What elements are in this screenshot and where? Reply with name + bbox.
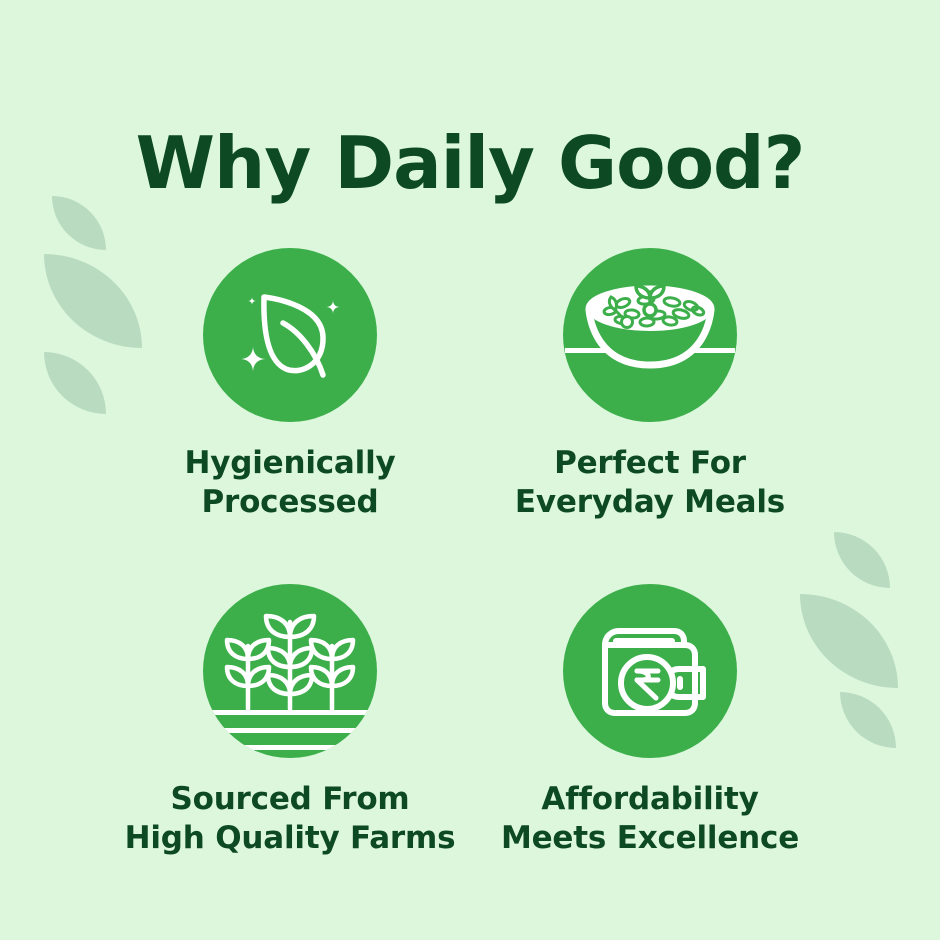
- soup-bowl-icon: [563, 248, 737, 422]
- feature-label: Sourced From High Quality Farms: [125, 780, 456, 858]
- leaf-sparkle-icon: [230, 275, 350, 395]
- feature-label: Perfect For Everyday Meals: [515, 444, 785, 522]
- why-daily-good-poster: Why Daily Good? Hygienically Proces: [0, 0, 940, 940]
- feature-icon-badge: [203, 584, 377, 758]
- feature-perfect-for-everyday-meals: Perfect For Everyday Meals: [470, 248, 830, 522]
- feature-sourced-from-high-quality-farms: Sourced From High Quality Farms: [110, 584, 470, 858]
- feature-icon-badge: [563, 584, 737, 758]
- wallet-rupee-icon: [590, 611, 710, 731]
- leaf-shape-icon: [834, 532, 890, 588]
- feature-icon-badge: [203, 248, 377, 422]
- feature-label: Hygienically Processed: [184, 444, 395, 522]
- page-title: Why Daily Good?: [0, 120, 940, 206]
- leaf-shape-icon: [840, 692, 896, 748]
- feature-icon-badge: [563, 248, 737, 422]
- leaf-shape-icon: [44, 352, 106, 414]
- feature-label: Affordability Meets Excellence: [501, 780, 799, 858]
- wheat-farm-icon: [203, 584, 377, 758]
- feature-affordability-meets-excellence: Affordability Meets Excellence: [470, 584, 830, 858]
- feature-grid: Hygienically Processed: [110, 248, 830, 858]
- feature-hygienically-processed: Hygienically Processed: [110, 248, 470, 522]
